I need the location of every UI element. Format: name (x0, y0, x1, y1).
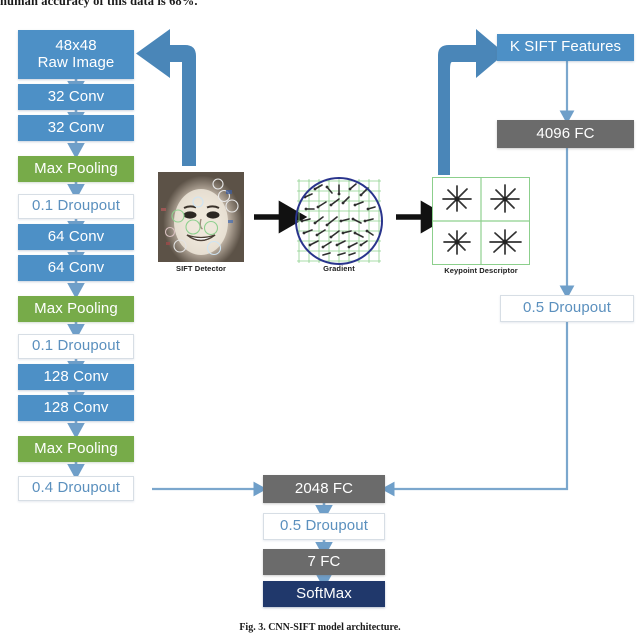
node-label: 64 Conv (48, 229, 105, 246)
node-k-sift-features[interactable]: K SIFT Features (497, 34, 634, 61)
node-label: 32 Conv (48, 120, 105, 137)
node-fc-2048[interactable]: 2048 FC (263, 475, 385, 503)
gradient-circle-icon (293, 175, 385, 267)
sift-detector-caption: SIFT Detector (158, 264, 244, 273)
node-fc-4096[interactable]: 4096 FC (497, 120, 634, 148)
node-label: 32 Conv (48, 89, 105, 106)
node-raw-image[interactable]: 48x48 Raw Image (18, 30, 134, 79)
node-label: Max Pooling (34, 301, 118, 318)
figure-canvas: human accuracy of this data is 68%. (0, 0, 640, 631)
node-label: 128 Conv (43, 400, 108, 417)
node-label: Max Pooling (34, 441, 118, 458)
node-label-line1: 48x48 (55, 38, 96, 55)
node-label: 0.1 Droupout (32, 198, 120, 215)
node-label: 0.4 Droupout (32, 480, 120, 497)
node-conv-32-a[interactable]: 32 Conv (18, 84, 134, 110)
node-label: 2048 FC (295, 481, 353, 498)
keypoint-descriptor-caption: Keypoint Descriptor (426, 266, 536, 275)
node-label: Max Pooling (34, 161, 118, 178)
face-photo-icon (158, 172, 244, 262)
node-conv-64-a[interactable]: 64 Conv (18, 224, 134, 250)
node-label-line2: Raw Image (38, 55, 115, 72)
node-conv-64-b[interactable]: 64 Conv (18, 255, 134, 281)
node-label: K SIFT Features (510, 39, 621, 56)
node-conv-32-b[interactable]: 32 Conv (18, 115, 134, 141)
node-label: 128 Conv (43, 369, 108, 386)
curved-up-right-arrow-icon (438, 29, 505, 175)
node-fc-7[interactable]: 7 FC (263, 549, 385, 575)
node-conv-128-a[interactable]: 128 Conv (18, 364, 134, 390)
figure-caption: Fig. 3. CNN-SIFT model architecture. (0, 622, 640, 633)
node-label: 64 Conv (48, 260, 105, 277)
node-label: SoftMax (296, 586, 352, 603)
article-body-text: human accuracy of this data is 68%. (0, 0, 300, 9)
node-dropout-01-b[interactable]: 0.1 Droupout (18, 334, 134, 359)
node-dropout-05-center[interactable]: 0.5 Droupout (263, 513, 385, 540)
node-maxpool-3[interactable]: Max Pooling (18, 436, 134, 462)
node-label: 4096 FC (536, 126, 594, 143)
curved-up-left-arrow-icon (136, 29, 196, 166)
node-dropout-04[interactable]: 0.4 Droupout (18, 476, 134, 501)
node-label: 7 FC (308, 554, 341, 571)
node-label: 0.1 Droupout (32, 338, 120, 355)
gradient-caption: Gradient (293, 264, 385, 273)
node-maxpool-1[interactable]: Max Pooling (18, 156, 134, 182)
node-dropout-01-a[interactable]: 0.1 Droupout (18, 194, 134, 219)
node-softmax[interactable]: SoftMax (263, 581, 385, 607)
node-maxpool-2[interactable]: Max Pooling (18, 296, 134, 322)
node-dropout-05-right[interactable]: 0.5 Droupout (500, 295, 634, 322)
node-conv-128-b[interactable]: 128 Conv (18, 395, 134, 421)
node-label: 0.5 Droupout (280, 518, 368, 535)
node-label: 0.5 Droupout (523, 300, 611, 317)
keypoint-grid-icon (432, 177, 530, 265)
